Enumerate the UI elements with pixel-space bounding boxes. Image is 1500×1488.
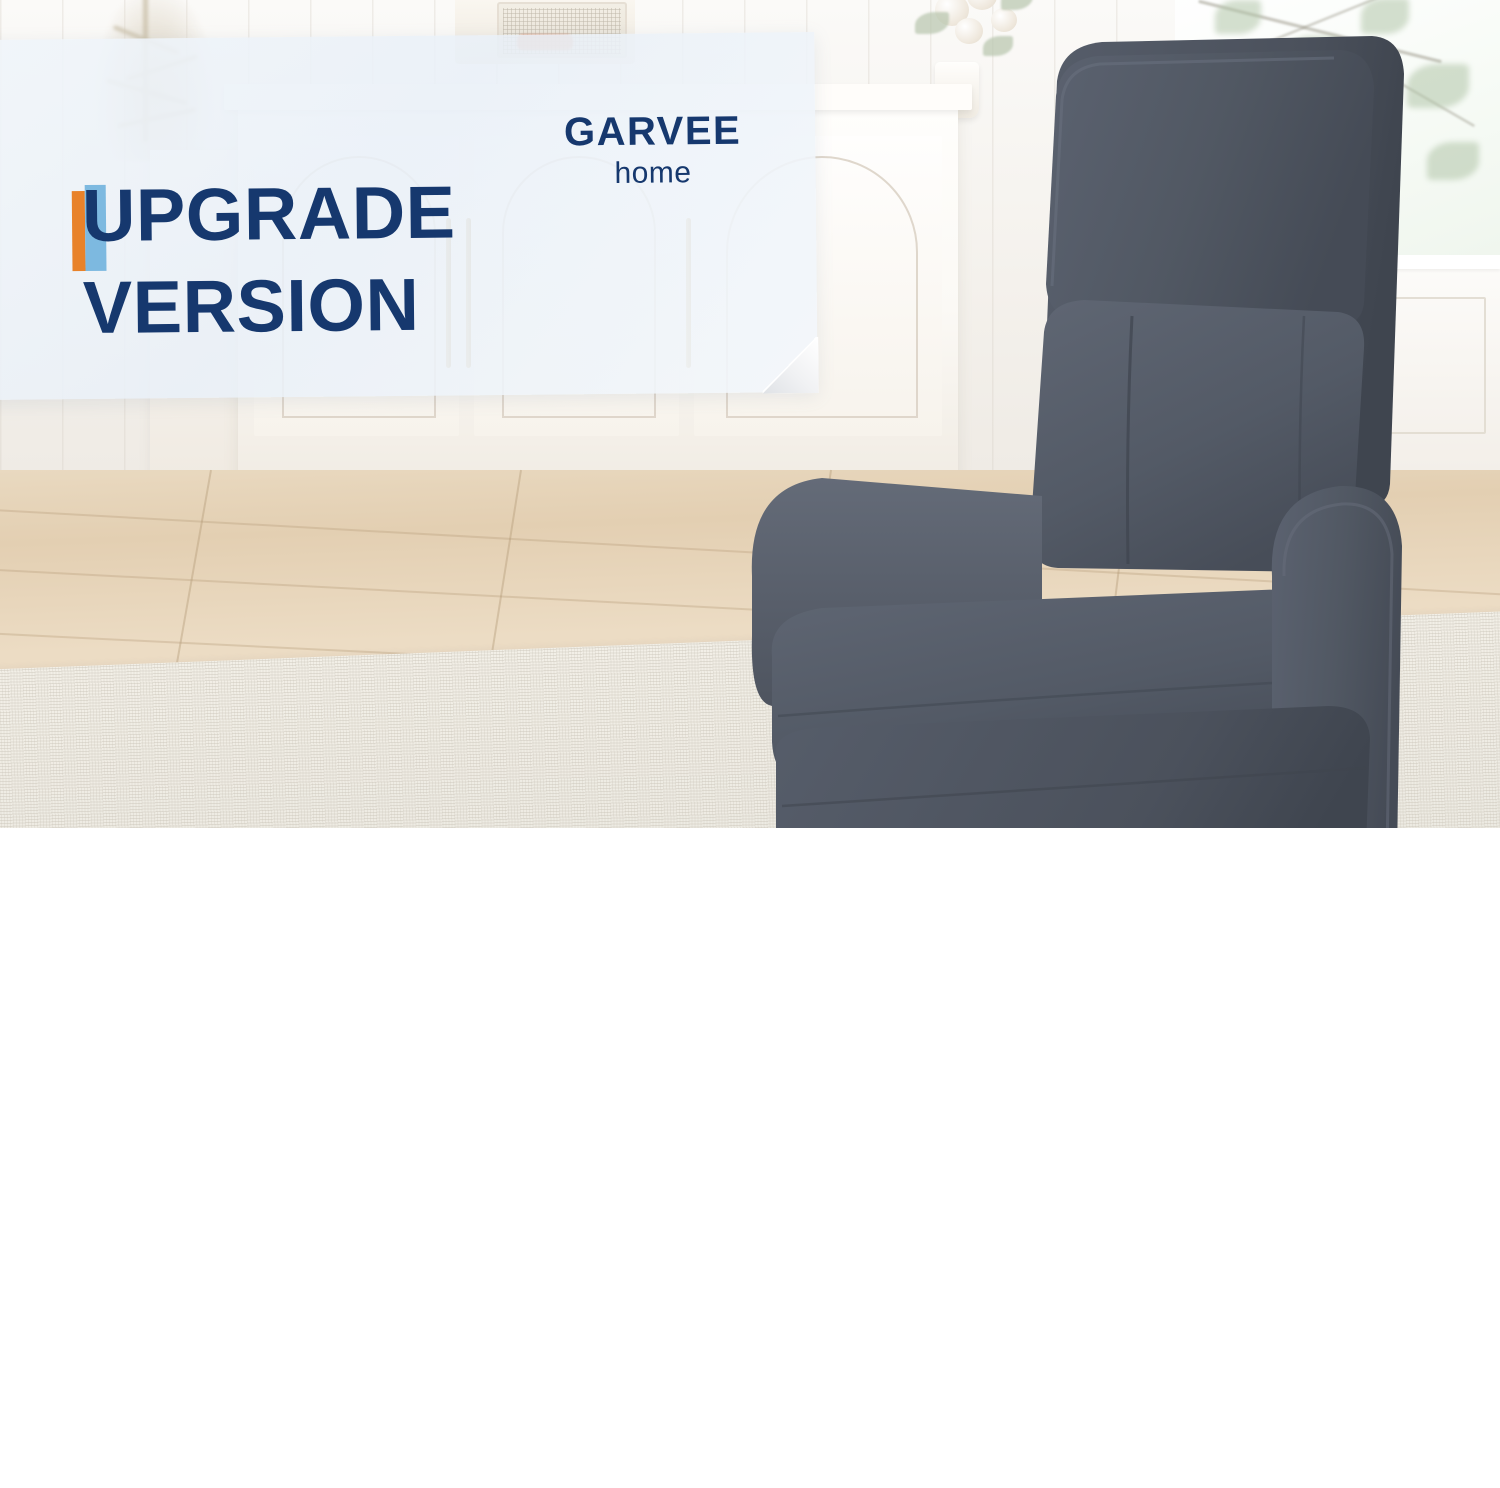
features-section: Wider & Fuller Seat and Armrests New des… [0, 828, 1500, 1488]
headline-line-2: VERSION [83, 268, 420, 345]
recliner-chair [712, 16, 1432, 828]
hero-room-scene: UPGRADE VERSION GARVEE home [0, 0, 1500, 828]
brand-tagline: home [564, 155, 742, 193]
upgrade-banner: UPGRADE VERSION GARVEE home [0, 32, 818, 400]
brand-logo: GARVEE home [564, 111, 742, 193]
brand-name: GARVEE [564, 111, 742, 153]
headline-line-1: UPGRADE [82, 175, 456, 253]
banner-corner-curl [762, 337, 819, 394]
product-marketing-image: UPGRADE VERSION GARVEE home [0, 0, 1500, 1488]
